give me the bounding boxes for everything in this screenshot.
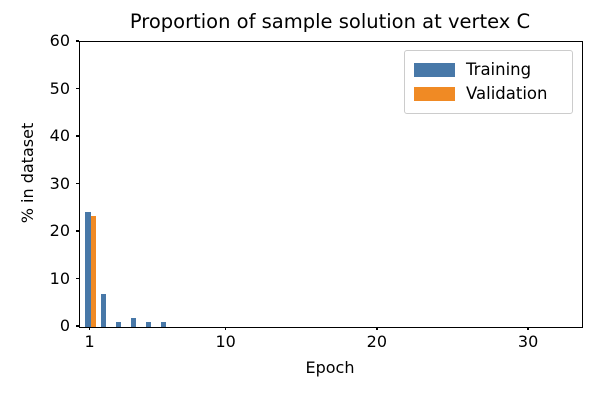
bar-training: [131, 318, 136, 328]
y-axis-tick-label: 60: [50, 31, 70, 51]
chart-title: Proportion of sample solution at vertex …: [79, 10, 581, 34]
legend-swatch-training-icon: [414, 63, 455, 77]
bar-validation: [91, 216, 96, 327]
x-axis-tick-label: 20: [347, 332, 407, 352]
bar-training: [161, 322, 166, 327]
legend-entry-validation: Validation: [414, 82, 563, 106]
x-axis-tick-label: 1: [60, 332, 120, 352]
bar-training: [116, 322, 121, 327]
y-axis-tick-label: 40: [50, 126, 70, 146]
chart-legend: Training Validation: [404, 50, 573, 114]
y-axis-tick-label: 20: [50, 221, 70, 241]
legend-entry-training: Training: [414, 58, 563, 82]
x-axis-tick-label: 10: [196, 332, 256, 352]
legend-swatch-validation-icon: [414, 87, 455, 101]
y-axis-tick-label: 30: [50, 174, 70, 194]
y-axis-label: % in dataset: [18, 93, 38, 253]
y-axis-tick-label: 10: [50, 269, 70, 289]
x-axis-tick-label: 30: [498, 332, 558, 352]
legend-label-training: Training: [466, 60, 531, 80]
y-axis-tick-label: 50: [50, 79, 70, 99]
bar-training: [101, 294, 106, 327]
bar-training: [146, 322, 151, 327]
chart-figure: Proportion of sample solution at vertex …: [0, 0, 600, 400]
x-axis-label: Epoch: [79, 358, 581, 378]
legend-label-validation: Validation: [466, 84, 547, 104]
